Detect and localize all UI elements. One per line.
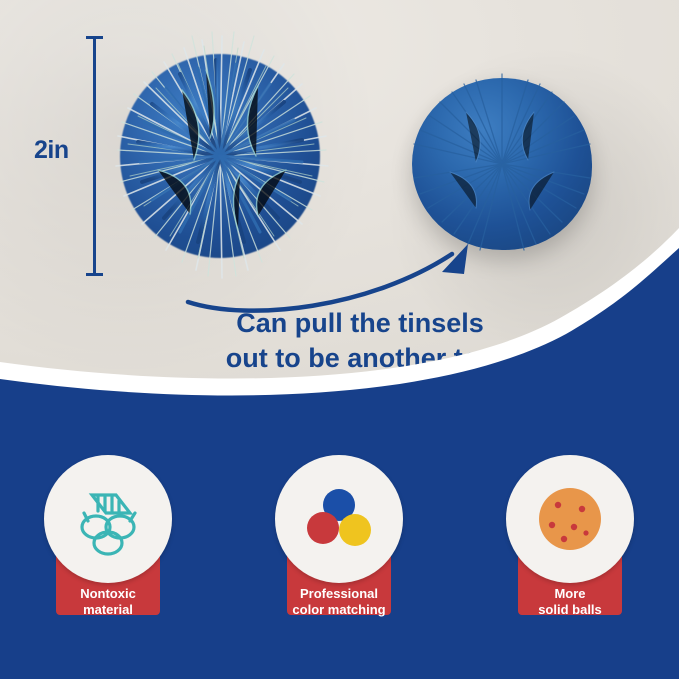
- dotted-ball-icon: [506, 455, 634, 583]
- feature-label-line-1: More: [554, 586, 585, 601]
- feature-icon-circle: [275, 455, 403, 583]
- feature-label: Nontoxic material: [56, 586, 160, 619]
- tinsel-strands-icon: [44, 455, 172, 583]
- dimension-cap-bottom: [86, 273, 103, 276]
- product-photo: 2in Can pull the tinsels out to be anoth…: [0, 0, 679, 440]
- photo-caption: Can pull the tinsels out to be another t…: [160, 306, 560, 375]
- feature-label-line-2: solid balls: [538, 602, 602, 617]
- plain-ball-fuzz: [406, 72, 598, 256]
- feature-icon-circle: [506, 455, 634, 583]
- three-color-circles-icon: [275, 455, 403, 583]
- product-infographic: 2in Can pull the tinsels out to be anoth…: [0, 0, 679, 679]
- feature-label-line-2: color matching: [292, 602, 385, 617]
- feature-label: More solid balls: [518, 586, 622, 619]
- caption-line-1: Can pull the tinsels: [236, 308, 484, 338]
- dimension-label: 2in: [34, 136, 69, 165]
- feature-panel: Nontoxic material Professional color mat…: [0, 440, 679, 679]
- dimension-line: [93, 36, 96, 276]
- caption-line-2: out to be another toy: [160, 341, 560, 376]
- feature-label-line-2: material: [83, 602, 133, 617]
- feature-label: Professional color matching: [287, 586, 391, 619]
- dimension-bar: [86, 36, 102, 276]
- plain-pom-pom-ball: [412, 78, 592, 250]
- feature-icon-circle: [44, 455, 172, 583]
- feature-label-line-1: Nontoxic: [80, 586, 136, 601]
- feature-label-line-1: Professional: [300, 586, 378, 601]
